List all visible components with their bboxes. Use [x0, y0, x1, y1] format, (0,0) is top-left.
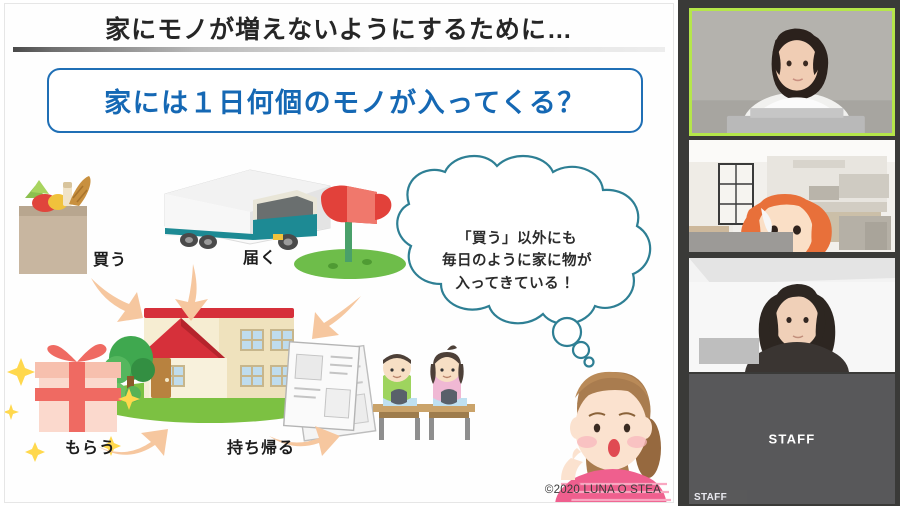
staff-nameplate: STAFF [689, 490, 747, 504]
label-bring-home: 持ち帰る [227, 434, 295, 458]
screen-root: 家にモノが増えないようにするために… 家には１日何個のモノが入ってくる？ [0, 0, 900, 506]
participant-2-video [689, 140, 895, 252]
participant-3-video [689, 258, 895, 372]
question-text: 家には１日何個のモノが入ってくる？ [104, 81, 586, 120]
video-tile-staff[interactable]: STAFF STAFF [689, 374, 895, 504]
label-deliver: 届く [243, 244, 277, 268]
video-participants-panel: STAFF STAFF [678, 0, 900, 506]
title-divider [13, 47, 665, 52]
video-tile-participant-1[interactable] [689, 8, 895, 136]
copyright-notice: ©2020 LUNA O STEA [545, 484, 661, 496]
thinking-woman-illustration [555, 372, 671, 502]
label-buy: 買う [93, 246, 127, 270]
bubble-line-3: 入ってきている ！ [383, 273, 651, 295]
shared-slide-area: 家にモノが増えないようにするために… 家には１日何個のモノが入ってくる？ [0, 0, 678, 506]
participant-1-video [692, 11, 892, 135]
question-box: 家には１日何個のモノが入ってくる？ [47, 68, 643, 133]
video-tile-participant-3[interactable] [689, 258, 895, 372]
bubble-line-1: 「買う」以外にも [383, 228, 651, 250]
staff-center-label: STAFF [689, 432, 895, 447]
bubble-line-2: 毎日のように家に物が [383, 250, 651, 272]
newspaper-icon [284, 342, 376, 441]
label-receive: もらう [65, 434, 116, 458]
delivery-truck-icon [165, 170, 330, 250]
video-tile-participant-2[interactable] [689, 140, 895, 252]
slide-title: 家にモノが増えないようにするために… [5, 10, 673, 46]
slide-canvas: 家にモノが増えないようにするために… 家には１日何個のモノが入ってくる？ [4, 3, 674, 503]
students-desks-icon [373, 345, 475, 440]
thought-bubble-text: 「買う」以外にも 毎日のように家に物が 入ってきている ！ [383, 228, 651, 295]
thought-bubble: 「買う」以外にも 毎日のように家に物が 入ってきている ！ [383, 172, 651, 352]
grocery-bag-icon [19, 176, 91, 274]
illustration-area: 「買う」以外にも 毎日のように家に物が 入ってきている ！ 買う 届く もらう … [5, 136, 674, 502]
